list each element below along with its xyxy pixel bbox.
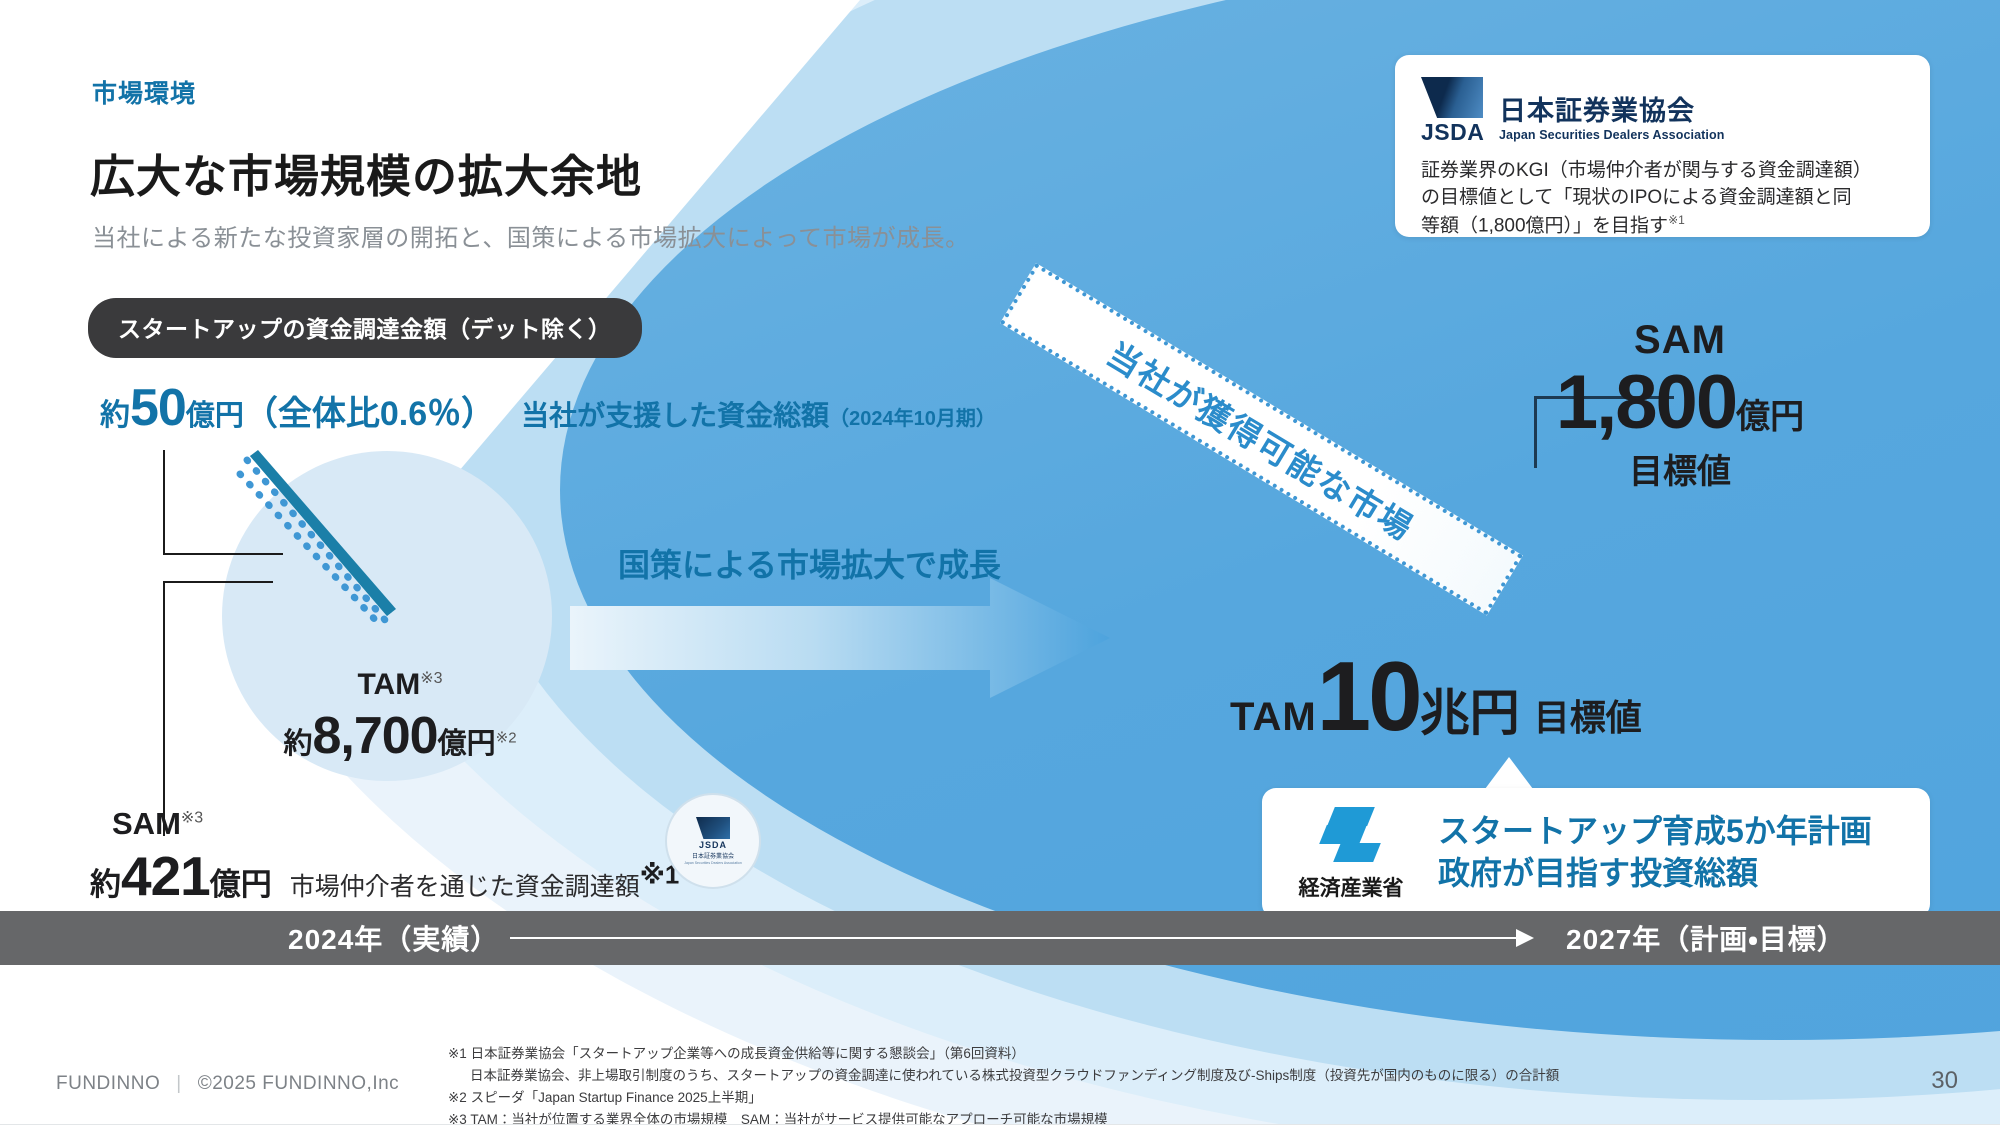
jsda-name-en: Japan Securities Dealers Association xyxy=(1499,128,1724,142)
jsda-name-jp: 日本証券業協会 xyxy=(1499,97,1724,125)
sam-unit: 億円 xyxy=(210,867,272,902)
tam-prefix: 約 xyxy=(283,728,312,760)
slide: 市場環境 広大な市場規模の拡大余地 当社による新たな投資家層の開拓と、国策による… xyxy=(0,0,2000,1125)
footnote-1a: ※1 日本証券業協会「スタートアップ企業等への成長資金供給等に関する懇談会」（第… xyxy=(448,1043,1559,1065)
jsda-logo-name: 日本証券業協会 Japan Securities Dealers Associa… xyxy=(1499,97,1724,144)
page-number: 30 xyxy=(1931,1067,1958,1095)
tam-right-value: 10 xyxy=(1317,641,1420,751)
meti-line2: 政府が目指す投資総額 xyxy=(1438,853,1872,895)
jsda-body-line3: 等額（1,800億円）」を目指す xyxy=(1421,215,1668,236)
footer-copyright: ©2025 FUNDINNO,Inc xyxy=(198,1073,399,1094)
supported-label: 当社が支援した資金総額 xyxy=(521,400,829,431)
jsda-callout-card: JSDA 日本証券業協会 Japan Securities Dealers As… xyxy=(1395,55,1930,237)
sam-label: SAM xyxy=(112,806,181,841)
footnote-2: ※2 スピーダ「Japan Startup Finance 2025上半期」 xyxy=(448,1087,1559,1109)
page-subtitle: 当社による新たな投資家層の開拓と、国策による市場拡大によって市場が成長。 xyxy=(92,218,970,253)
jsda-body-footnote-marker: ※1 xyxy=(1668,213,1685,227)
timeline-start-label: 2024年（実績） xyxy=(288,918,499,958)
tam-center-group: TAM※3 約8,700億円※2 xyxy=(250,668,550,766)
jsda-logo-abbr: JSDA xyxy=(1421,121,1485,144)
eyebrow-label: 市場環境 xyxy=(92,74,196,110)
sam-right-target: 目標値 xyxy=(1430,444,1930,493)
jsda-badge-en: Japan Securities Dealers Association xyxy=(684,861,742,865)
unit-oku: 億円 xyxy=(186,400,244,432)
jsda-logo-row: JSDA 日本証券業協会 Japan Securities Dealers As… xyxy=(1421,77,1904,144)
jsda-badge-abbr: JSDA xyxy=(699,840,727,850)
sam-description: 市場仲介者を通じた資金調達額 xyxy=(290,873,640,901)
tam-unit: 億円 xyxy=(438,728,496,760)
meti-card-pointer xyxy=(1485,757,1533,789)
footnote-1b: 日本証券業協会、非上場取引制度のうち、スタートアップの資金調達に使われている株式… xyxy=(448,1065,1559,1087)
meti-card-text: スタートアップ育成5か年計画 政府が目指す投資総額 xyxy=(1438,811,1872,894)
share-value: 0.6％ xyxy=(380,395,461,433)
supported-date: （2024年10月期） xyxy=(829,408,996,430)
share-close: ） xyxy=(461,395,495,433)
leader-line-50 xyxy=(163,450,283,555)
jsda-body-line2: の目標値として「現状のIPOによる資金調達額と同 xyxy=(1421,185,1904,212)
sam-footnote-marker: ※3 xyxy=(181,810,203,827)
sam-right-unit: 億円 xyxy=(1736,398,1804,436)
sam-right-value: 1,800 xyxy=(1556,360,1736,445)
jsda-logo-icon xyxy=(1421,77,1483,118)
amount-50: 50 xyxy=(130,379,186,437)
footnotes: ※1 日本証券業協会「スタートアップ企業等への成長資金供給等に関する懇談会」（第… xyxy=(448,1043,1559,1125)
footer-separator: | xyxy=(176,1073,181,1095)
growth-arrow-label: 国策による市場拡大で成長 xyxy=(618,540,1001,586)
meti-logo-name: 経済産業省 xyxy=(1292,872,1410,902)
timeline-line xyxy=(510,937,1530,939)
sam-value: 421 xyxy=(121,845,210,907)
sam-prefix: 約 xyxy=(90,867,121,902)
jsda-mark-icon xyxy=(696,817,730,839)
timeline-arrow-head xyxy=(1516,929,1534,947)
approx-prefix: 約 xyxy=(100,399,130,432)
meti-logo-icon xyxy=(1317,805,1385,869)
sam-right-label: SAM xyxy=(1430,318,1930,363)
meti-logo: 経済産業省 xyxy=(1292,805,1410,902)
tam-value-footnote-marker: ※2 xyxy=(496,729,517,746)
timeline-end-label: 2027年（計画・目標） xyxy=(1566,918,1846,958)
tam-value: 8,700 xyxy=(312,707,437,765)
tam-right-unit: 兆円 xyxy=(1420,685,1520,741)
tam-right-label: TAM xyxy=(1230,695,1317,739)
footer-brand-group: FUNDINNO|©2025 FUNDINNO,Inc xyxy=(56,1073,399,1095)
jsda-logo: JSDA xyxy=(1421,77,1485,144)
growth-arrow xyxy=(570,578,1110,698)
sam-right-group: SAM 1,800億円 目標値 xyxy=(1430,318,1930,493)
footer-brand: FUNDINNO xyxy=(56,1073,160,1094)
meti-callout-card: 経済産業省 スタートアップ育成5か年計画 政府が目指す投資総額 xyxy=(1262,788,1930,918)
share-open: （全体比 xyxy=(244,395,380,433)
jsda-card-body: 証券業界のKGI（市場仲介者が関与する資金調達額） の目標値として「現状のIPO… xyxy=(1421,158,1904,240)
sam-left-group: SAM※3 約421億円市場仲介者を通じた資金調達額※1 xyxy=(90,806,679,908)
meti-line1: スタートアップ育成5か年計画 xyxy=(1438,811,1872,853)
footnote-3: ※3 TAM：当社が位置する業界全体の市場規模 SAM：当社がサービス提供可能な… xyxy=(448,1109,1559,1125)
chart-category-pill: スタートアップの資金調達金額（デット除く） xyxy=(88,298,642,358)
jsda-seal-badge: JSDA 日本証券業協会 Japan Securities Dealers As… xyxy=(665,793,761,889)
timeline-bar: 2024年（実績） 2027年（計画・目標） xyxy=(0,911,2000,965)
jsda-badge-jp: 日本証券業協会 xyxy=(692,851,734,860)
tam-right-target: 目標値 xyxy=(1534,697,1642,738)
tam-right-group: TAM10兆円目標値 xyxy=(1230,640,1642,753)
jsda-body-line1: 証券業界のKGI（市場仲介者が関与する資金調達額） xyxy=(1421,158,1904,185)
supported-amount-line: 約50億円（全体比0.6％）当社が支援した資金総額（2024年10月期） xyxy=(100,378,996,438)
page-title: 広大な市場規模の拡大余地 xyxy=(90,140,642,205)
tam-label: TAM xyxy=(357,668,420,701)
tam-footnote-marker: ※3 xyxy=(420,670,442,687)
